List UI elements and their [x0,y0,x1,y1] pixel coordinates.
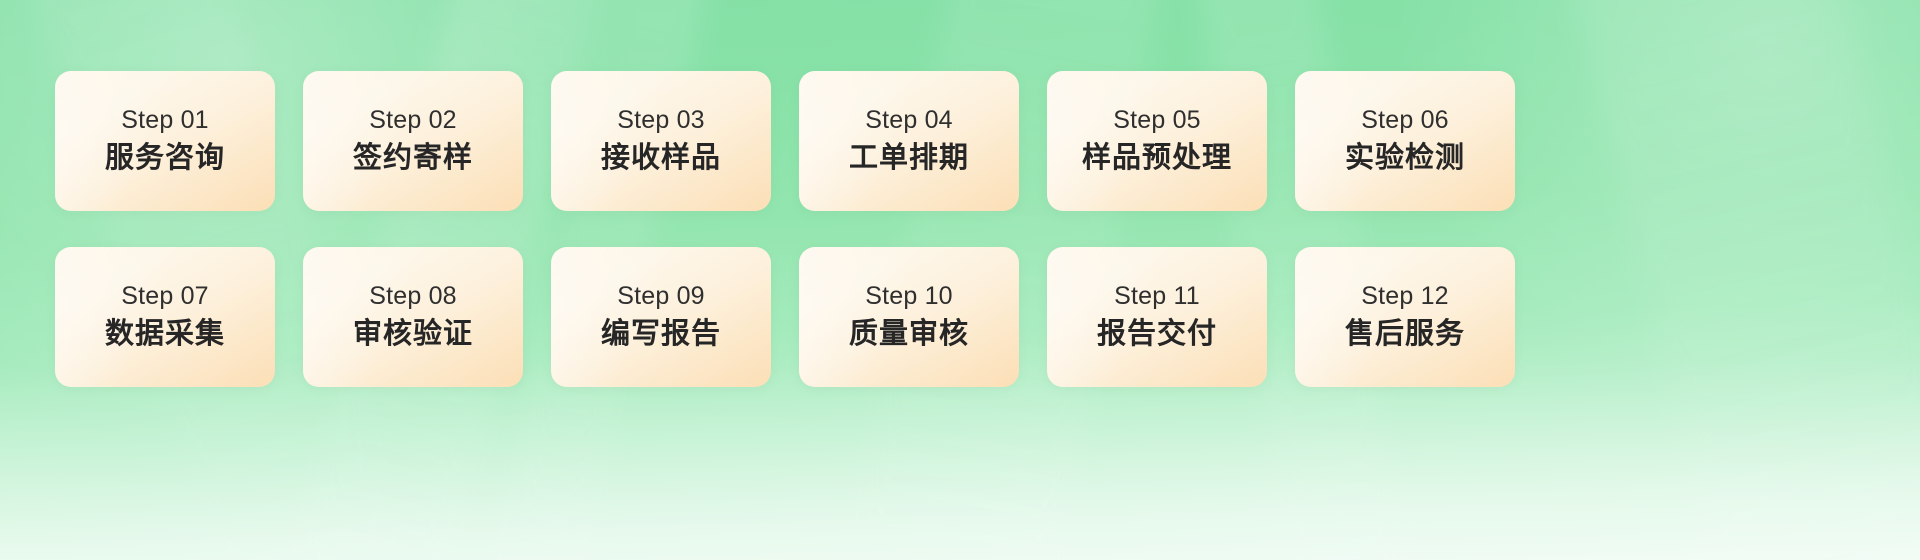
step-title: 服务咨询 [105,141,225,176]
step-title: 样品预处理 [1082,141,1232,176]
step-card[interactable]: Step 01服务咨询 [55,71,275,211]
step-number: Step 03 [617,106,705,135]
step-number: Step 10 [865,282,953,311]
step-card[interactable]: Step 10质量审核 [799,247,1019,387]
step-card[interactable]: Step 07数据采集 [55,247,275,387]
step-card[interactable]: Step 04工单排期 [799,71,1019,211]
step-card[interactable]: Step 11报告交付 [1047,247,1267,387]
step-card-grid: Step 01服务咨询Step 02签约寄样Step 03接收样品Step 04… [55,71,1865,387]
step-number: Step 11 [1114,282,1200,311]
step-card[interactable]: Step 05样品预处理 [1047,71,1267,211]
step-title: 签约寄样 [353,141,473,176]
step-title: 接收样品 [601,141,721,176]
step-number: Step 02 [369,106,457,135]
step-title: 报告交付 [1097,317,1217,352]
step-card[interactable]: Step 08审核验证 [303,247,523,387]
step-number: Step 07 [121,282,209,311]
step-number: Step 05 [1113,106,1201,135]
step-card[interactable]: Step 12售后服务 [1295,247,1515,387]
step-title: 实验检测 [1345,141,1465,176]
step-number: Step 09 [617,282,705,311]
step-card[interactable]: Step 03接收样品 [551,71,771,211]
step-number: Step 01 [121,106,209,135]
step-title: 编写报告 [601,317,721,352]
step-number: Step 04 [865,106,953,135]
step-title: 工单排期 [849,141,969,176]
step-number: Step 06 [1361,106,1449,135]
step-number: Step 12 [1361,282,1449,311]
step-title: 审核验证 [353,317,473,352]
process-flow-banner: Step 01服务咨询Step 02签约寄样Step 03接收样品Step 04… [0,0,1920,560]
step-card[interactable]: Step 09编写报告 [551,247,771,387]
step-title: 售后服务 [1345,317,1465,352]
step-card[interactable]: Step 06实验检测 [1295,71,1515,211]
step-title: 数据采集 [105,317,225,352]
step-number: Step 08 [369,282,457,311]
step-card[interactable]: Step 02签约寄样 [303,71,523,211]
background-bottom-fade [0,360,1920,560]
step-title: 质量审核 [849,317,969,352]
